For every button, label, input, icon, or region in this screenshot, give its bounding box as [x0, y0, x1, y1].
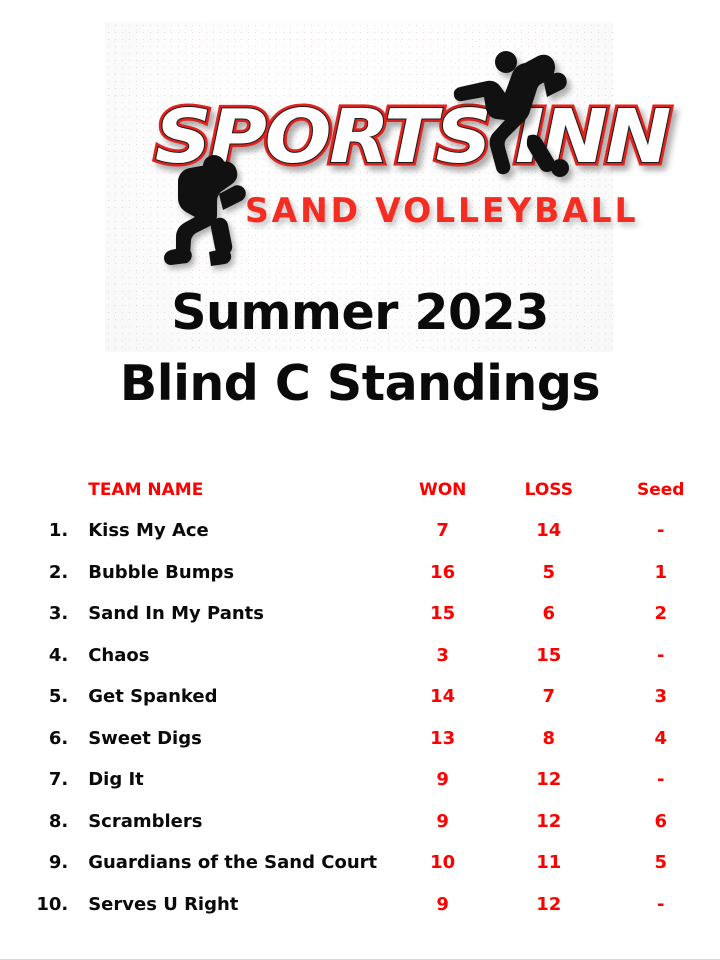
row-won: 3: [389, 635, 496, 677]
header-won: WON: [389, 470, 496, 510]
row-loss: 6: [496, 593, 601, 635]
row-loss: 5: [496, 552, 601, 594]
title-line-season: Summer 2023: [0, 278, 720, 349]
row-rank: 5.: [0, 676, 76, 718]
row-rank: 9.: [0, 842, 76, 884]
row-loss: 12: [496, 759, 601, 801]
table-row: 1.Kiss My Ace714-: [0, 510, 720, 552]
table-row: 2.Bubble Bumps1651: [0, 552, 720, 594]
table-row: 5.Get Spanked1473: [0, 676, 720, 718]
row-won: 16: [389, 552, 496, 594]
row-loss: 15: [496, 635, 601, 677]
row-won: 9: [389, 801, 496, 843]
row-team-name: Sand In My Pants: [76, 593, 389, 635]
header-row: TEAM NAME WON LOSS Seed: [0, 470, 720, 510]
header-rank: [0, 470, 76, 510]
title-line-division: Blind C Standings: [0, 349, 720, 420]
row-loss: 12: [496, 884, 601, 926]
row-team-name: Guardians of the Sand Court: [76, 842, 389, 884]
header-seed: Seed: [601, 470, 720, 510]
row-won: 7: [389, 510, 496, 552]
row-seed: 4: [601, 718, 720, 760]
row-rank: 1.: [0, 510, 76, 552]
row-rank: 3.: [0, 593, 76, 635]
table-row: 6.Sweet Digs1384: [0, 718, 720, 760]
row-team-name: Dig It: [76, 759, 389, 801]
table-row: 4.Chaos315-: [0, 635, 720, 677]
table-row: 3.Sand In My Pants1562: [0, 593, 720, 635]
row-loss: 7: [496, 676, 601, 718]
page-title: Summer 2023 Blind C Standings: [0, 278, 720, 419]
table-row: 9.Guardians of the Sand Court10115: [0, 842, 720, 884]
row-rank: 10.: [0, 884, 76, 926]
row-won: 9: [389, 884, 496, 926]
row-seed: -: [601, 510, 720, 552]
table-row: 7.Dig It912-: [0, 759, 720, 801]
row-loss: 14: [496, 510, 601, 552]
row-seed: -: [601, 635, 720, 677]
row-seed: 2: [601, 593, 720, 635]
row-team-name: Kiss My Ace: [76, 510, 389, 552]
row-rank: 2.: [0, 552, 76, 594]
row-seed: 6: [601, 801, 720, 843]
row-team-name: Chaos: [76, 635, 389, 677]
row-won: 14: [389, 676, 496, 718]
header-loss: LOSS: [496, 470, 601, 510]
row-team-name: Serves U Right: [76, 884, 389, 926]
table-row: 10.Serves U Right912-: [0, 884, 720, 926]
sand-volleyball-subtitle: SAND VOLLEYBALL: [245, 194, 639, 228]
row-seed: -: [601, 759, 720, 801]
row-rank: 8.: [0, 801, 76, 843]
row-team-name: Get Spanked: [76, 676, 389, 718]
row-rank: 7.: [0, 759, 76, 801]
row-rank: 6.: [0, 718, 76, 760]
volleyball-spiker-silhouette-icon: [450, 40, 600, 190]
standings-body: 1.Kiss My Ace714-2.Bubble Bumps16513.San…: [0, 510, 720, 925]
row-seed: 5: [601, 842, 720, 884]
row-won: 15: [389, 593, 496, 635]
row-loss: 12: [496, 801, 601, 843]
row-team-name: Sweet Digs: [76, 718, 389, 760]
row-seed: -: [601, 884, 720, 926]
row-loss: 8: [496, 718, 601, 760]
row-won: 9: [389, 759, 496, 801]
row-seed: 3: [601, 676, 720, 718]
standings-header: TEAM NAME WON LOSS Seed: [0, 470, 720, 510]
row-won: 13: [389, 718, 496, 760]
standings-table: TEAM NAME WON LOSS Seed 1.Kiss My Ace714…: [0, 470, 720, 925]
row-rank: 4.: [0, 635, 76, 677]
table-row: 8.Scramblers9126: [0, 801, 720, 843]
row-won: 10: [389, 842, 496, 884]
row-team-name: Bubble Bumps: [76, 552, 389, 594]
row-team-name: Scramblers: [76, 801, 389, 843]
volleyball-digger-silhouette-icon: [160, 152, 265, 267]
row-loss: 11: [496, 842, 601, 884]
row-seed: 1: [601, 552, 720, 594]
header-team-name: TEAM NAME: [76, 470, 389, 510]
